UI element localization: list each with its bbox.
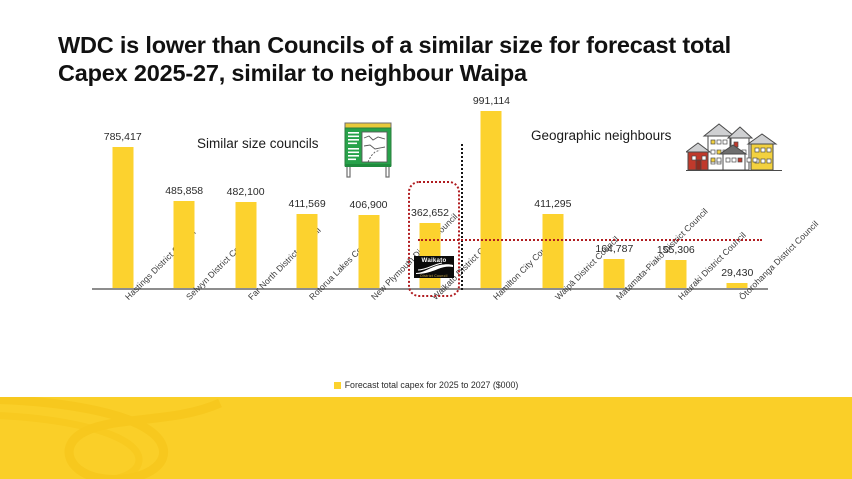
bar-group: 164,787Matamata-Piako District Council xyxy=(584,100,645,288)
chart-legend: Forecast total capex for 2025 to 2027 ($… xyxy=(0,380,852,390)
bar-group: 482,100Far North District Council xyxy=(215,100,276,288)
bar[interactable] xyxy=(112,147,133,288)
bar-value-label: 411,295 xyxy=(534,198,571,210)
legend-series-label: Forecast total capex for 2025 to 2027 ($… xyxy=(345,380,519,390)
category-axis-label: Ōtorohanga District Council xyxy=(737,219,820,302)
waikato-district-council-logo: Waikato District Council xyxy=(414,256,454,278)
bar-chart: 785,417Hastings District Council485,858S… xyxy=(0,100,852,395)
footer-swoosh-decoration xyxy=(0,397,410,479)
bar[interactable] xyxy=(358,215,379,288)
page-title: WDC is lower than Councils of a similar … xyxy=(58,31,798,87)
wdc-logo-subtitle: District Council xyxy=(414,274,454,278)
bar-group: 485,858Selwyn District Council xyxy=(153,100,214,288)
bar[interactable] xyxy=(665,260,686,288)
bar-group: 991,114Hamilton City Council xyxy=(461,100,522,288)
bar-group: 411,295Waipā District Council xyxy=(522,100,583,288)
bar[interactable] xyxy=(481,111,502,288)
legend-swatch-icon xyxy=(334,382,341,389)
bar-group: 155,306Hauraki District Council xyxy=(645,100,706,288)
bar-group: 406,900New Plymouth District Council xyxy=(338,100,399,288)
title-line-2: Capex 2025-27, similar to neighbour Waip… xyxy=(58,59,798,87)
bar-value-label: 29,430 xyxy=(721,267,753,279)
bar-value-label: 406,900 xyxy=(350,199,388,211)
bar-value-label: 155,306 xyxy=(657,244,695,256)
bar[interactable] xyxy=(604,259,625,289)
bar-value-label: 485,858 xyxy=(165,185,203,197)
bar-group: 411,569Rotorua Lakes Council xyxy=(276,100,337,288)
bar-value-label: 164,787 xyxy=(595,243,633,255)
bar[interactable] xyxy=(174,201,195,288)
bar-value-label: 785,417 xyxy=(104,131,142,143)
bar-group: 29,430Ōtorohanga District Council xyxy=(707,100,768,288)
bar-value-label: 411,569 xyxy=(288,198,325,210)
bar-value-label: 991,114 xyxy=(473,95,510,107)
bar[interactable] xyxy=(297,214,318,288)
waikato-reference-line xyxy=(418,239,762,241)
title-line-1: WDC is lower than Councils of a similar … xyxy=(58,32,731,58)
group-divider-line xyxy=(461,144,463,290)
slide: WDC is lower than Councils of a similar … xyxy=(0,0,852,479)
bar[interactable] xyxy=(235,202,256,288)
bar-value-label: 482,100 xyxy=(227,186,265,198)
waikato-highlight-box xyxy=(408,181,460,297)
footer-band: DIA data release for Council profiles, J… xyxy=(0,397,852,479)
bar[interactable] xyxy=(542,214,563,288)
bar-group: 785,417Hastings District Council xyxy=(92,100,153,288)
